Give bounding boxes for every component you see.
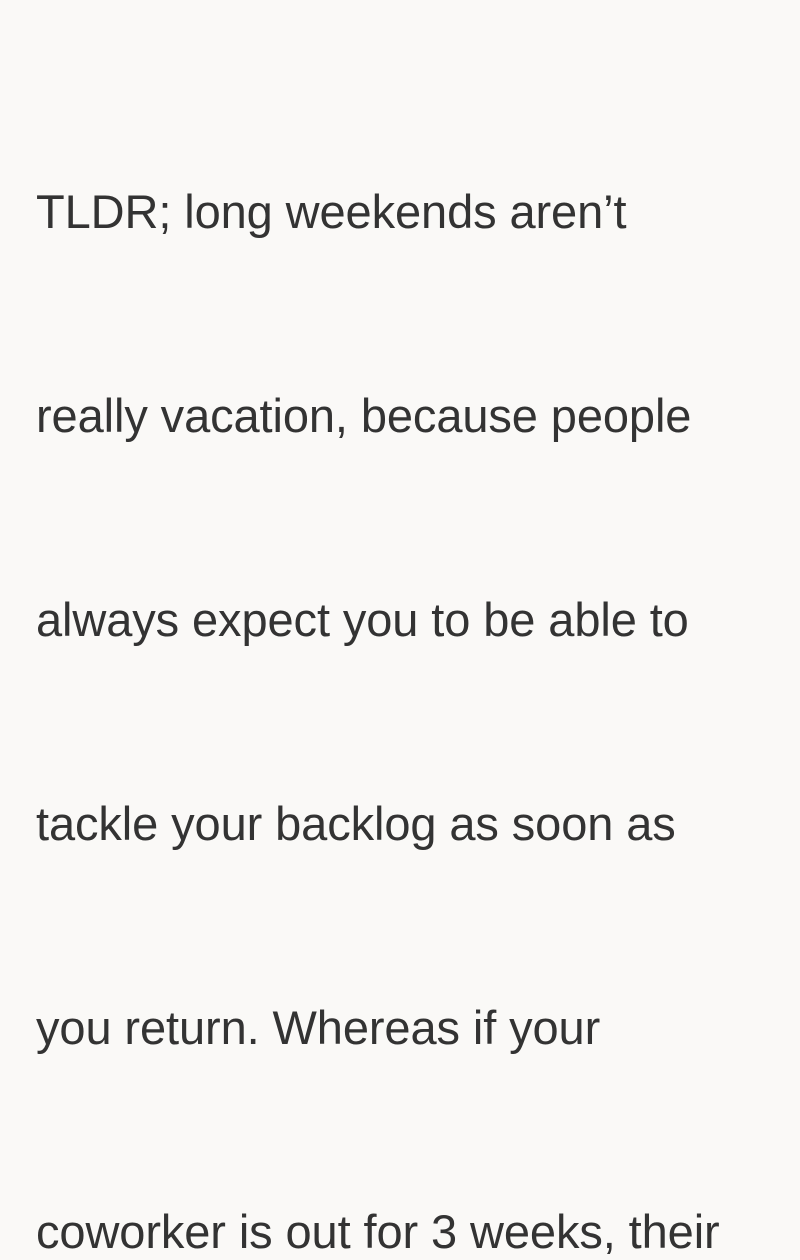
post-text-block: TLDR; long weekends aren’t really vacati… [36, 42, 784, 1260]
text-post-page: TLDR; long weekends aren’t really vacati… [0, 0, 800, 630]
post-text-line: TLDR; long weekends aren’t [36, 178, 784, 246]
post-text-line: really vacation, because people [36, 382, 784, 450]
post-text-line: tackle your backlog as soon as [36, 790, 784, 858]
post-text-line: you return. Whereas if your [36, 994, 784, 1062]
post-text-line: coworker is out for 3 weeks, their [36, 1198, 784, 1260]
post-text-line: always expect you to be able to [36, 586, 784, 654]
